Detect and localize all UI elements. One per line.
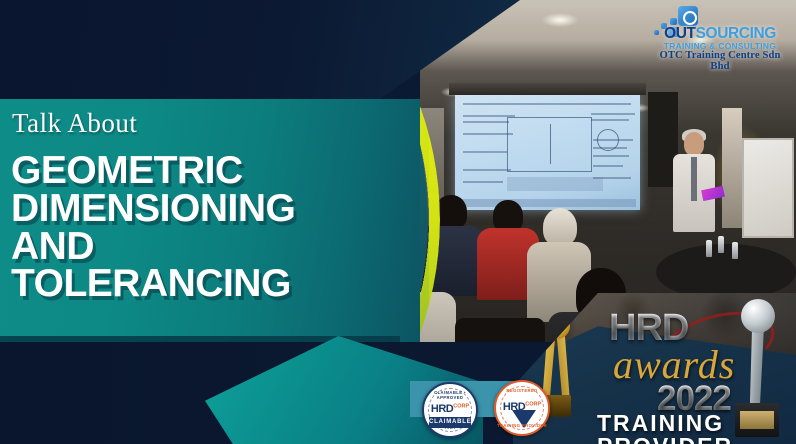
badge-logo-sup: CORP [453, 403, 469, 409]
badge-logo-text: HRD [431, 403, 453, 415]
badge-logo: HRDCORP [424, 403, 476, 415]
whiteboard [742, 138, 794, 238]
badge-arc-top: CLAIMABLE • APPROVED [424, 390, 476, 400]
drawing-circle [597, 129, 619, 151]
eyebrow-text: Talk About [12, 108, 137, 139]
attendee-head [543, 208, 577, 246]
logo-brand-sourcing: SOURCING [696, 25, 776, 42]
technical-drawing [507, 117, 592, 172]
badge-arc-top: REGISTERED [496, 388, 548, 393]
logo-brand-out: OUT [664, 25, 696, 42]
badge-arc-bottom: TRAINING PROVIDER [496, 423, 548, 428]
water-bottle [732, 242, 738, 259]
title-line-3: AND [11, 228, 411, 266]
presenter-trainer [672, 132, 716, 232]
badge-arc-bottom: • TVET • [424, 425, 476, 430]
projector-screen [455, 95, 640, 210]
page-title: GEOMETRIC DIMENSIONING AND TOLERANCING [11, 152, 411, 303]
logo-brand: OUTSOURCING [650, 26, 790, 42]
otc-logo: OUTSOURCING TRAINING & CONSULTING OTC Tr… [650, 8, 790, 60]
hrd-corp-claimable-badge: CLAIMABLE • APPROVED HRDCORP CLAIMABLE •… [422, 382, 478, 438]
badge-logo-sup: CORP [525, 401, 541, 407]
water-bottle [718, 236, 724, 253]
title-line-4: TOLERANCING [11, 265, 411, 303]
hrd-corp-registered-badge: REGISTERED HRDCORP TRAINING PROVIDER [494, 380, 550, 436]
water-bottle [706, 240, 712, 257]
training-course-banner: Talk About GEOMETRIC DIMENSIONING AND TO… [0, 0, 796, 444]
award-category-line-2: PROVIDER [597, 433, 733, 444]
round-table [656, 244, 796, 300]
title-line-2: DIMENSIONING [11, 190, 411, 228]
title-line-1: GEOMETRIC [11, 152, 411, 190]
logo-legal-name: OTC Training Centre Sdn Bhd [650, 50, 790, 72]
screen-taskbar [459, 199, 636, 207]
logo-square-icon [670, 18, 677, 25]
